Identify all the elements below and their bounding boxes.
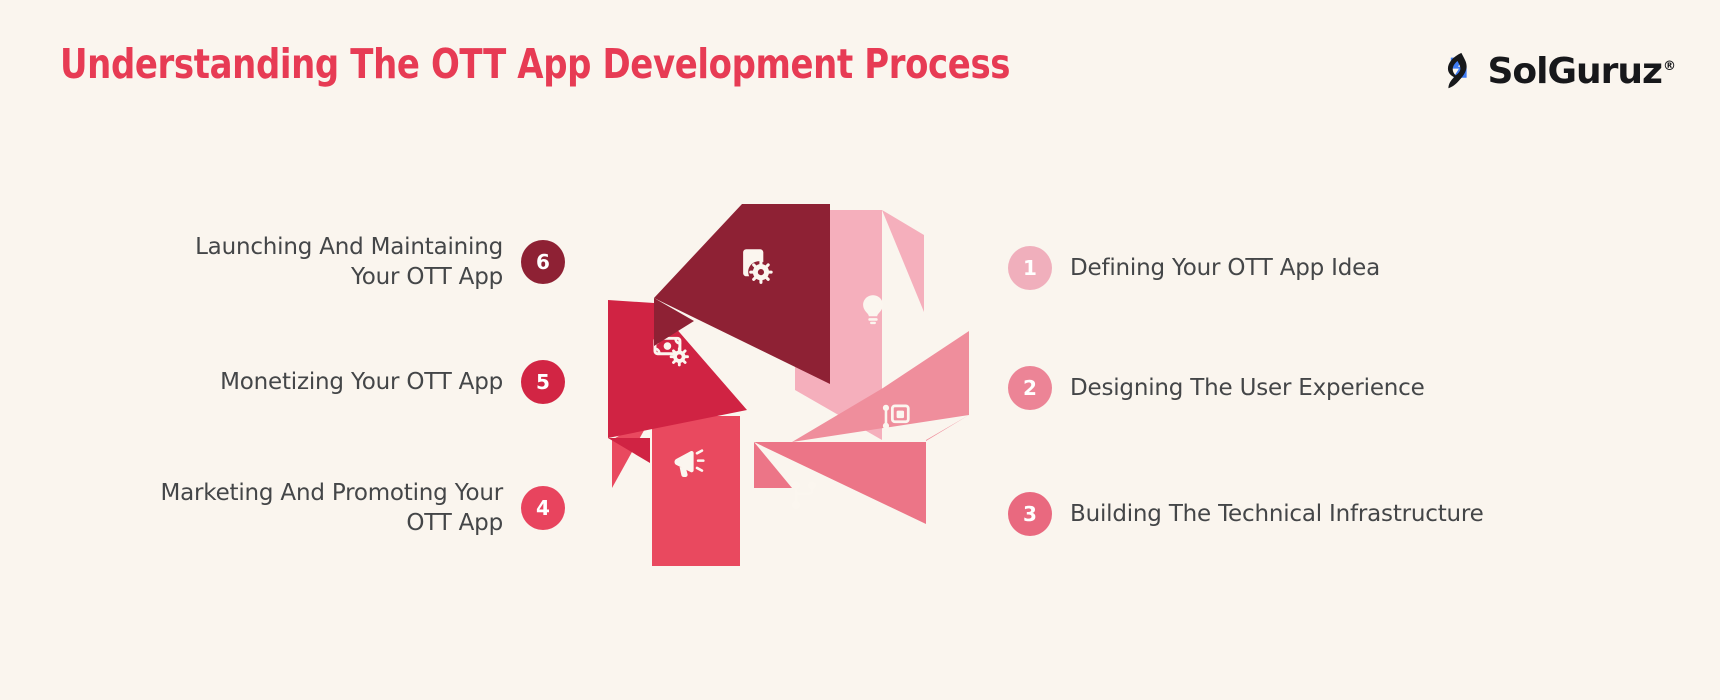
wheel-blade-3 bbox=[754, 442, 926, 524]
step-label-3: Building The Technical Infrastructure bbox=[1070, 499, 1484, 529]
step-badge-1: 1 bbox=[1008, 246, 1052, 290]
step-item-4[interactable]: Marketing And Promoting Your OTT App 4 bbox=[160, 478, 565, 539]
step-label-2: Designing The User Experience bbox=[1070, 373, 1425, 403]
step-label-1: Defining Your OTT App Idea bbox=[1070, 253, 1380, 283]
step-item-6[interactable]: Launching And Maintaining Your OTT App 6 bbox=[195, 232, 565, 293]
step-item-2[interactable]: 2 Designing The User Experience bbox=[1008, 366, 1425, 410]
step-label-4: Marketing And Promoting Your OTT App bbox=[160, 478, 503, 539]
process-pinwheel bbox=[592, 188, 992, 578]
step-item-5[interactable]: Monetizing Your OTT App 5 bbox=[220, 360, 565, 404]
step-label-6: Launching And Maintaining Your OTT App bbox=[195, 232, 503, 293]
infographic-page: Understanding The OTT App Development Pr… bbox=[0, 0, 1720, 700]
step-item-3[interactable]: 3 Building The Technical Infrastructure bbox=[1008, 492, 1484, 536]
brand-logo: SolGuruz® bbox=[1435, 46, 1675, 98]
step-badge-5: 5 bbox=[521, 360, 565, 404]
step-badge-6: 6 bbox=[521, 240, 565, 284]
step-badge-4: 4 bbox=[521, 486, 565, 530]
logo-wordmark: SolGuruz® bbox=[1487, 54, 1675, 90]
step-badge-3: 3 bbox=[1008, 492, 1052, 536]
node-network-icon bbox=[792, 482, 816, 510]
solguruz-swoosh-icon bbox=[1435, 49, 1481, 95]
step-badge-2: 2 bbox=[1008, 366, 1052, 410]
step-label-5: Monetizing Your OTT App bbox=[220, 367, 503, 397]
step-item-1[interactable]: 1 Defining Your OTT App Idea bbox=[1008, 246, 1380, 290]
page-title: Understanding The OTT App Development Pr… bbox=[60, 40, 1010, 88]
registered-mark: ® bbox=[1663, 59, 1675, 74]
